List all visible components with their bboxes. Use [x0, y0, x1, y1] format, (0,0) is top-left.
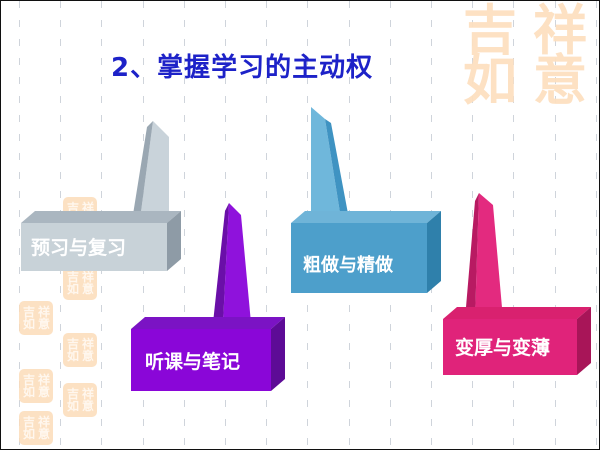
flag-gray-label: 预习与复习 [31, 233, 126, 260]
flag-blue-box-top [291, 211, 441, 223]
flag-blue-box-side [427, 211, 441, 293]
seal-char: 意 [80, 400, 95, 412]
flag-purple-box-side [271, 317, 285, 391]
seal-stamp: 吉祥如意 [63, 333, 97, 367]
seal-char: 如 [65, 283, 80, 295]
seal-char: 如 [65, 400, 80, 412]
seal-char: 如 [21, 428, 36, 440]
seal-watermark-large: 吉 祥 如 意 [455, 3, 595, 108]
flag-pink-label: 变厚与变薄 [455, 333, 550, 360]
flag-purple-box-top [131, 317, 285, 329]
slide-canvas: 吉 祥 如 意 吉祥如意吉祥如意吉祥如意吉祥如意吉祥如意吉祥如意吉祥如意 2、掌… [0, 0, 600, 450]
seal-char: 意 [36, 428, 51, 440]
seal-stamp: 吉祥如意 [19, 369, 53, 403]
seal-stamp: 吉祥如意 [63, 383, 97, 417]
seal-char: 如 [65, 350, 80, 362]
seal-char: 意 [36, 318, 51, 330]
flag-blue[interactable]: 粗做与精做 [289, 105, 449, 295]
seal-stamp: 吉祥如意 [19, 301, 53, 335]
flag-pink[interactable]: 变厚与变薄 [441, 191, 599, 381]
seal-char: 如 [21, 318, 36, 330]
flag-purple-label: 听课与笔记 [145, 347, 240, 374]
flag-pink-box-top [443, 307, 591, 319]
seal-stamp: 吉祥如意 [19, 411, 53, 445]
seal-char: 意 [525, 56, 595, 106]
seal-char: 如 [21, 386, 36, 398]
seal-char: 如 [455, 56, 525, 106]
flag-blue-label: 粗做与精做 [303, 251, 393, 277]
flag-pink-spike-light [475, 193, 503, 319]
seal-char: 意 [80, 283, 95, 295]
flag-purple[interactable]: 听课与笔记 [129, 201, 294, 393]
page-title: 2、掌握学习的主动权 [111, 47, 373, 84]
seal-char: 意 [36, 386, 51, 398]
seal-char: 意 [80, 350, 95, 362]
